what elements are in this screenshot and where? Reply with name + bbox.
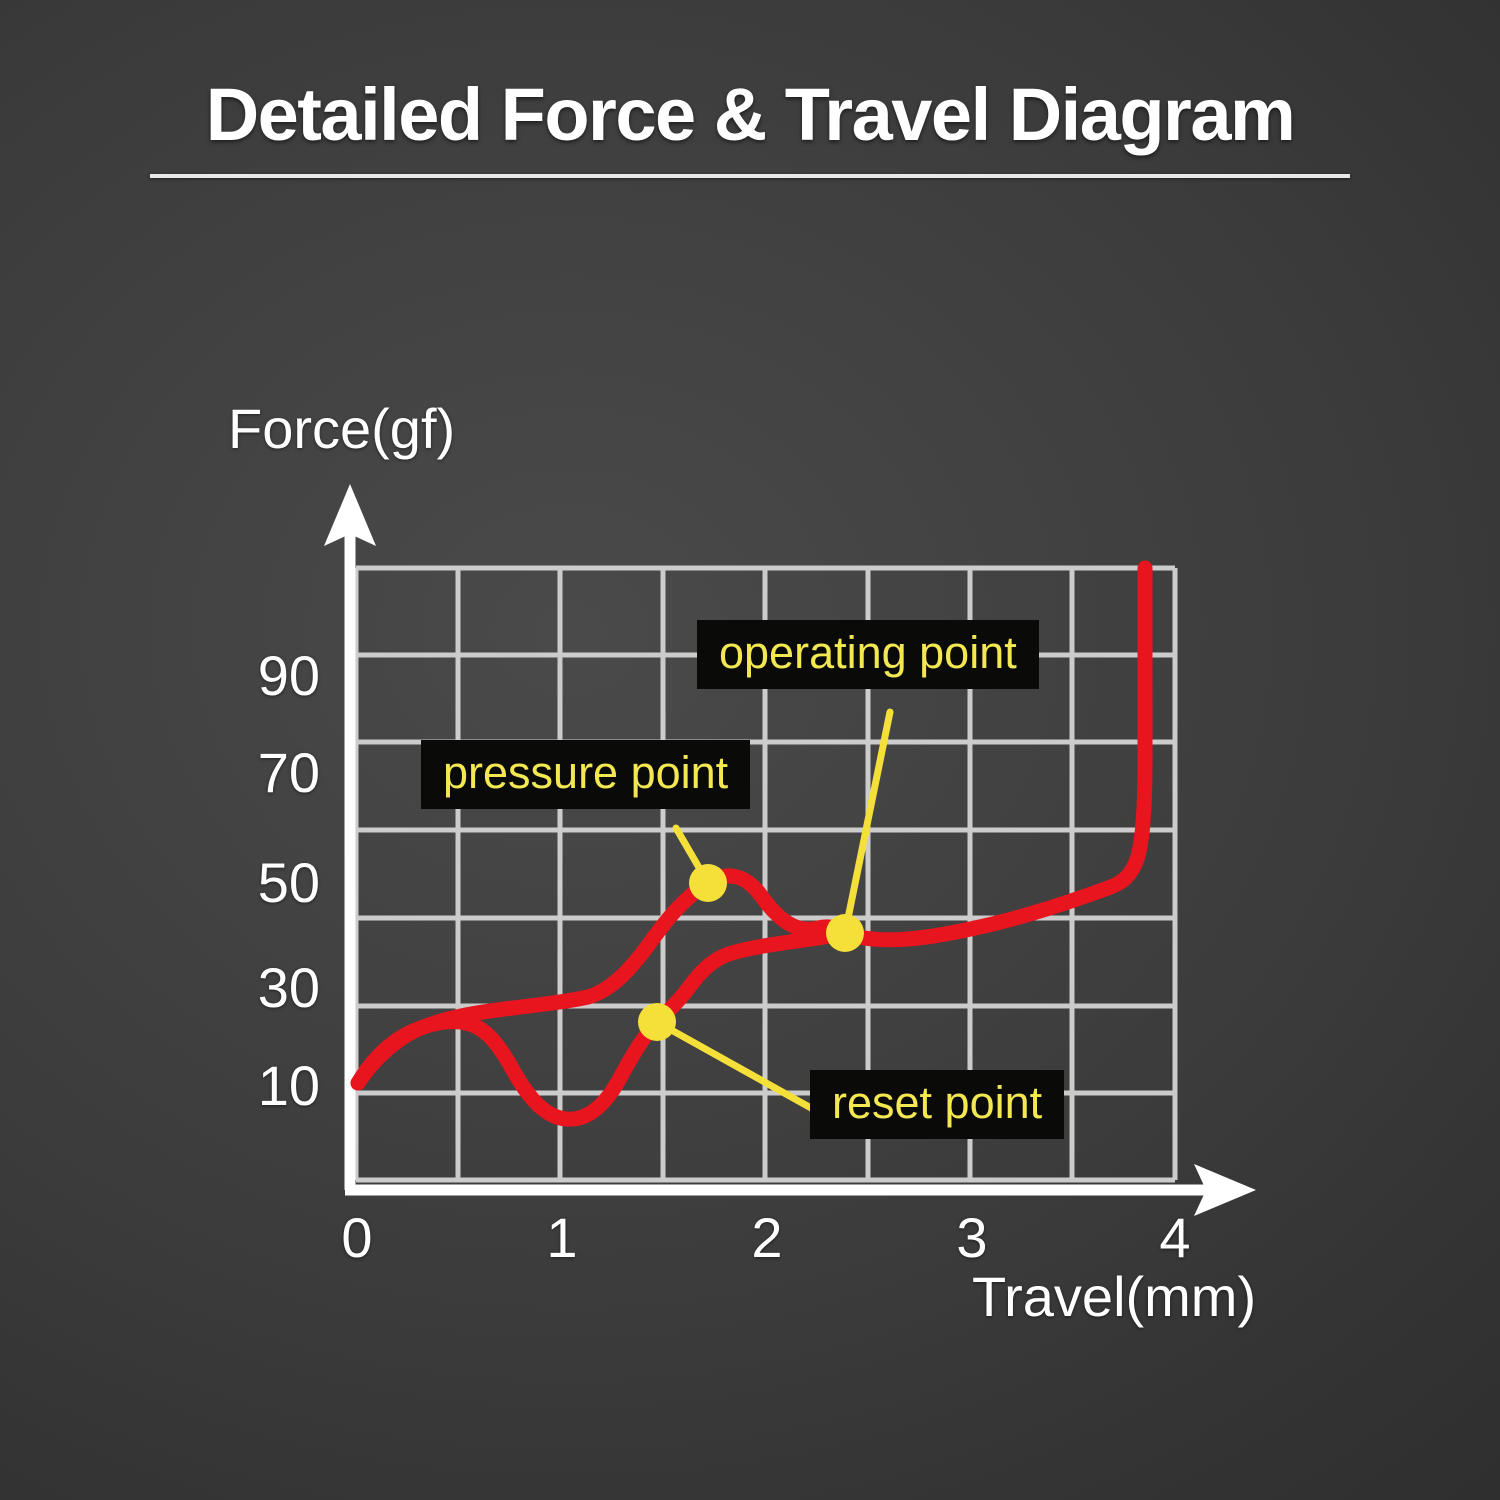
y-tick-label-30: 30 — [230, 955, 320, 1020]
y-axis-title: Force(gf) — [228, 396, 455, 461]
x-tick-label-2: 2 — [732, 1205, 802, 1270]
x-tick-label-0: 0 — [322, 1205, 392, 1270]
callout-reset-point[interactable]: reset point — [810, 1070, 1064, 1139]
callout-operating-point[interactable]: operating point — [697, 620, 1039, 689]
y-tick-label-70: 70 — [230, 740, 320, 805]
y-tick-label-50: 50 — [230, 850, 320, 915]
marker-pressure-point[interactable] — [689, 864, 727, 902]
x-tick-label-3: 3 — [937, 1205, 1007, 1270]
y-tick-label-10: 10 — [230, 1053, 320, 1118]
x-tick-label-1: 1 — [527, 1205, 597, 1270]
callout-pressure-point[interactable]: pressure point — [421, 740, 750, 809]
marker-reset-point[interactable] — [638, 1003, 676, 1041]
force-travel-diagram-page: Detailed Force & Travel Diagram — [0, 0, 1500, 1500]
marker-operating-point[interactable] — [826, 914, 864, 952]
x-axis-title: Travel(mm) — [972, 1264, 1256, 1329]
x-tick-label-4: 4 — [1140, 1205, 1210, 1270]
y-tick-label-90: 90 — [230, 643, 320, 708]
leader-line-reset — [657, 1022, 820, 1113]
y-axis — [324, 484, 376, 1190]
chart-area: Force(gf) Travel(mm) 90 70 50 30 10 0 1 … — [0, 0, 1500, 1500]
